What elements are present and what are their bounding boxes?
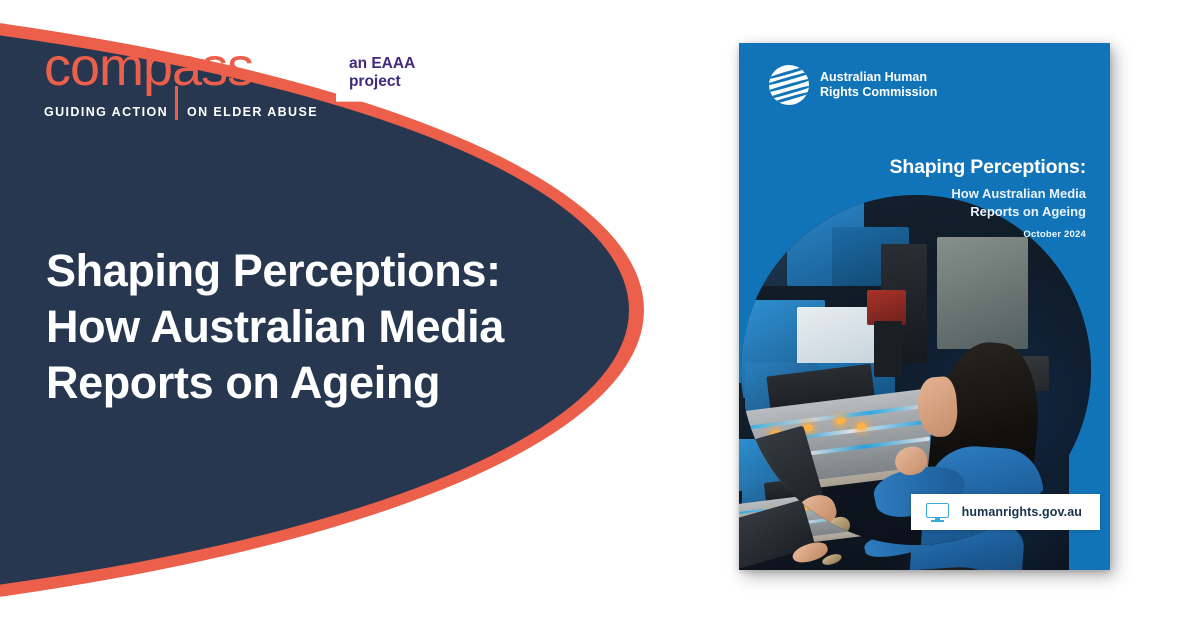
page-title-line-2: How Australian Media bbox=[46, 299, 606, 355]
cover-title-block: Shaping Perceptions: How Australian Medi… bbox=[890, 156, 1086, 240]
compass-logo-mark: compass GUIDING ACTION ON ELDER ABUSE bbox=[44, 42, 318, 129]
page-title-line-1: Shaping Perceptions: bbox=[46, 243, 606, 299]
compass-tagline: GUIDING ACTION ON ELDER ABUSE bbox=[44, 95, 318, 129]
ahrc-org-line-2: Rights Commission bbox=[820, 85, 937, 100]
cover-subtitle-line-2: Reports on Ageing bbox=[890, 203, 1086, 220]
ahrc-logo: Australian Human Rights Commission bbox=[769, 65, 937, 105]
eaaa-badge-line-2: project bbox=[349, 73, 415, 91]
tagline-guiding-action: GUIDING ACTION bbox=[44, 105, 168, 119]
website-url-label: humanrights.gov.au bbox=[962, 505, 1082, 519]
cover-title: Shaping Perceptions: bbox=[890, 156, 1086, 179]
cover-subtitle: How Australian Media Reports on Ageing bbox=[890, 185, 1086, 219]
compass-logo[interactable]: compass GUIDING ACTION ON ELDER ABUSE an… bbox=[44, 42, 429, 129]
website-badge[interactable]: humanrights.gov.au bbox=[911, 494, 1100, 530]
page-title-line-3: Reports on Ageing bbox=[46, 355, 606, 411]
eaaa-badge-line-1: an EAAA bbox=[349, 55, 415, 73]
report-cover[interactable]: Australian Human Rights Commission bbox=[739, 43, 1110, 570]
ahrc-org-line-1: Australian Human bbox=[820, 70, 937, 85]
monitor-icon bbox=[926, 503, 949, 522]
page-title: Shaping Perceptions: How Australian Medi… bbox=[46, 243, 606, 410]
promo-banner: compass GUIDING ACTION ON ELDER ABUSE an… bbox=[0, 0, 1200, 620]
globe-icon bbox=[769, 65, 809, 105]
cover-subtitle-line-1: How Australian Media bbox=[890, 185, 1086, 202]
tagline-on-elder-abuse: ON ELDER ABUSE bbox=[187, 105, 318, 119]
compass-wordmark: compass bbox=[44, 42, 318, 94]
eaaa-project-badge: an EAAA project bbox=[336, 46, 429, 102]
tagline-divider-icon bbox=[175, 86, 178, 120]
cover-photo bbox=[741, 195, 1091, 545]
ahrc-logo-text: Australian Human Rights Commission bbox=[820, 70, 937, 101]
cover-date: October 2024 bbox=[890, 229, 1086, 240]
